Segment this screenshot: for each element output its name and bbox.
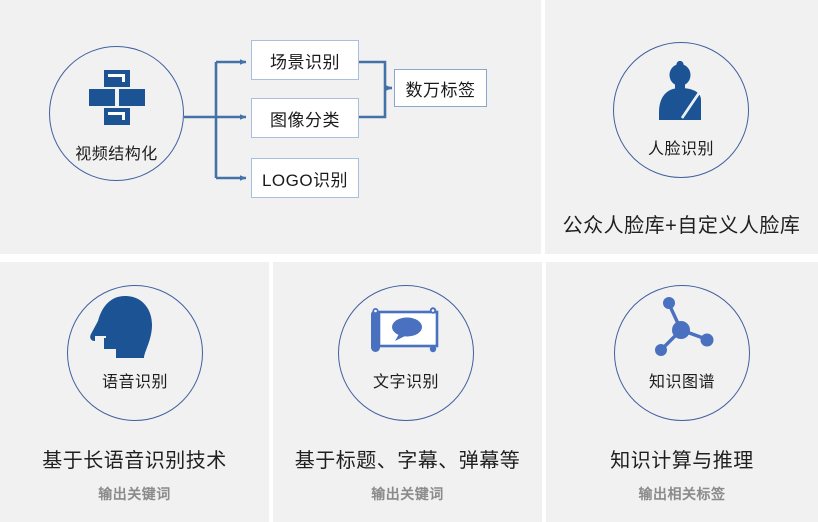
flow-node-scene-label: 场景识别: [270, 48, 340, 73]
circle-label-knowledge-graph: 知识图谱: [614, 368, 750, 392]
video-structuring-icon: [89, 70, 145, 125]
flow-node-logo[interactable]: LOGO识别: [251, 158, 359, 198]
circle-label-face-recognition: 人脸识别: [613, 135, 749, 159]
subcaption-speech-recognition: 输出关键词: [0, 484, 269, 504]
flow-node-scene[interactable]: 场景识别: [251, 40, 359, 80]
circle-label-speech-recognition: 语音识别: [67, 368, 203, 392]
flow-node-tags[interactable]: 数万标签: [394, 69, 487, 107]
panel-face-recognition: 人脸识别 公众人脸库+自定义人脸库: [545, 0, 818, 254]
face-recognition-icon: [654, 60, 708, 122]
panel-knowledge-graph: 知识图谱 知识计算与推理 输出相关标签: [546, 262, 818, 522]
flow-node-image-label: 图像分类: [270, 106, 340, 131]
flow-node-logo-label: LOGO识别: [262, 166, 348, 191]
circle-label-video-structuring: 视频结构化: [49, 140, 184, 164]
subcaption-knowledge-graph: 输出相关标签: [546, 484, 818, 504]
infographic-canvas: 视频结构化: [0, 0, 818, 522]
caption-text-recognition: 基于标题、字幕、弹幕等: [273, 444, 542, 473]
knowledge-graph-icon: [643, 287, 723, 359]
circle-label-text-recognition: 文字识别: [338, 368, 474, 392]
panel-speech-recognition: 语音识别 基于长语音识别技术 输出关键词: [0, 262, 269, 522]
text-banner-icon: [369, 304, 443, 359]
panel-video-structuring: 视频结构化: [0, 0, 541, 254]
speech-head-icon: [84, 294, 156, 360]
panel-text-recognition: 文字识别 基于标题、字幕、弹幕等 输出关键词: [273, 262, 542, 522]
caption-speech-recognition: 基于长语音识别技术: [0, 444, 269, 473]
subcaption-text-recognition: 输出关键词: [273, 484, 542, 504]
caption-face-recognition: 公众人脸库+自定义人脸库: [545, 209, 818, 238]
caption-knowledge-graph: 知识计算与推理: [546, 444, 818, 473]
flow-node-tags-label: 数万标签: [406, 76, 476, 101]
flow-node-image[interactable]: 图像分类: [251, 98, 359, 138]
